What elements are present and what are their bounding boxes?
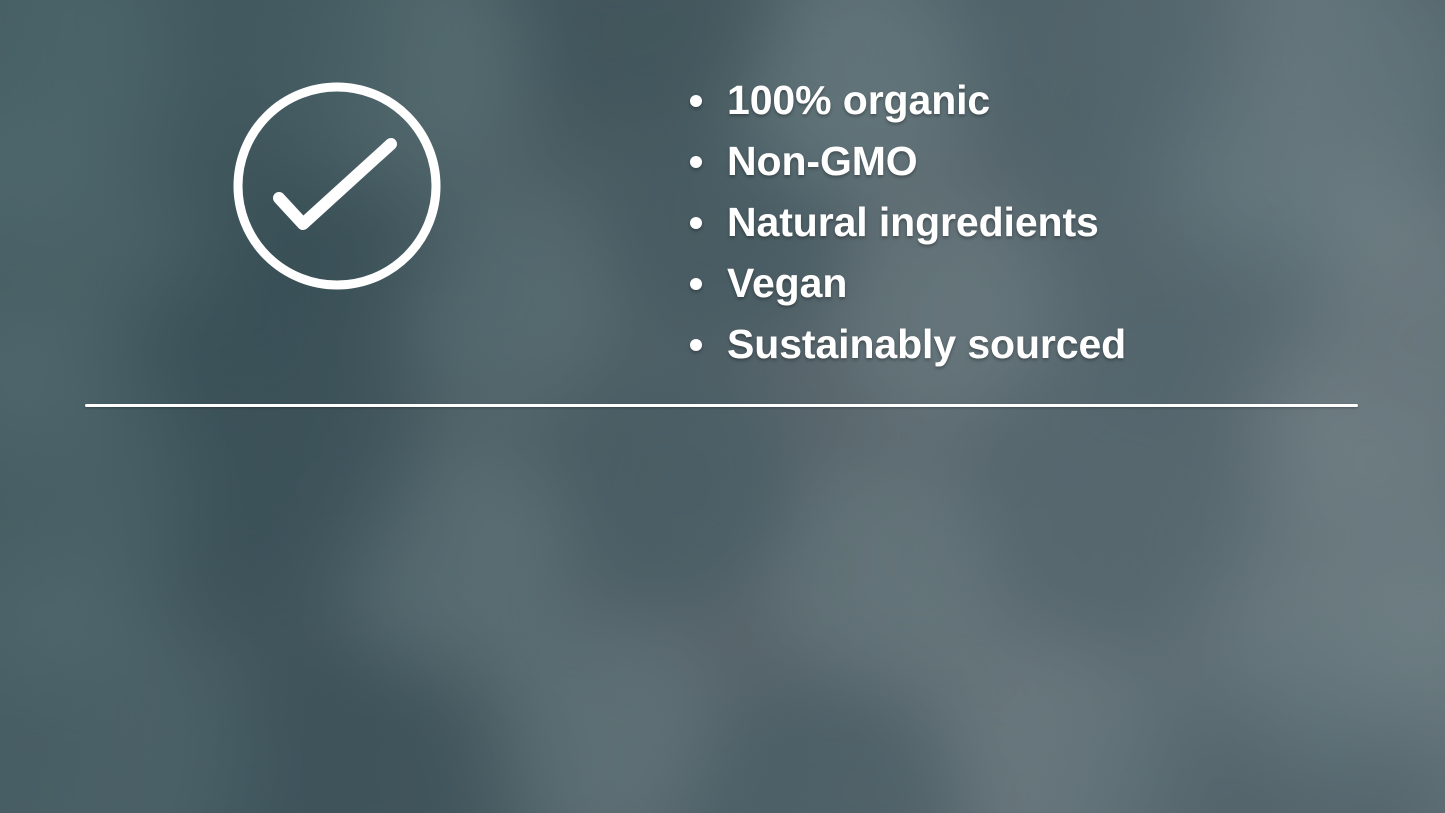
bullet-dot-icon: [690, 217, 702, 229]
infographic-canvas: 100% organic Non-GMO Natural ingredients…: [0, 0, 1445, 813]
bullet-dot-icon: [690, 95, 702, 107]
list-item: Non-GMO: [690, 131, 1126, 192]
bullet-dot-icon: [690, 156, 702, 168]
pros-list: 100% organic Non-GMO Natural ingredients…: [690, 70, 1126, 375]
check-circle-icon: [233, 82, 441, 290]
bullet-dot-icon: [690, 278, 702, 290]
list-item-label: Sustainably sourced: [727, 321, 1126, 368]
list-item-label: Natural ingredients: [727, 199, 1099, 246]
list-item: 100% organic: [690, 70, 1126, 131]
list-item: Vegan: [690, 253, 1126, 314]
list-item: Natural ingredients: [690, 192, 1126, 253]
pros-panel: 100% organic Non-GMO Natural ingredients…: [0, 0, 1445, 405]
list-item-label: 100% organic: [727, 77, 990, 124]
list-item: Sustainably sourced: [690, 314, 1126, 375]
list-item-label: Vegan: [727, 260, 847, 307]
bullet-dot-icon: [690, 339, 702, 351]
cons-panel: No fillers No preservatives No gluten No…: [0, 406, 1445, 813]
list-item-label: Non-GMO: [727, 138, 918, 185]
